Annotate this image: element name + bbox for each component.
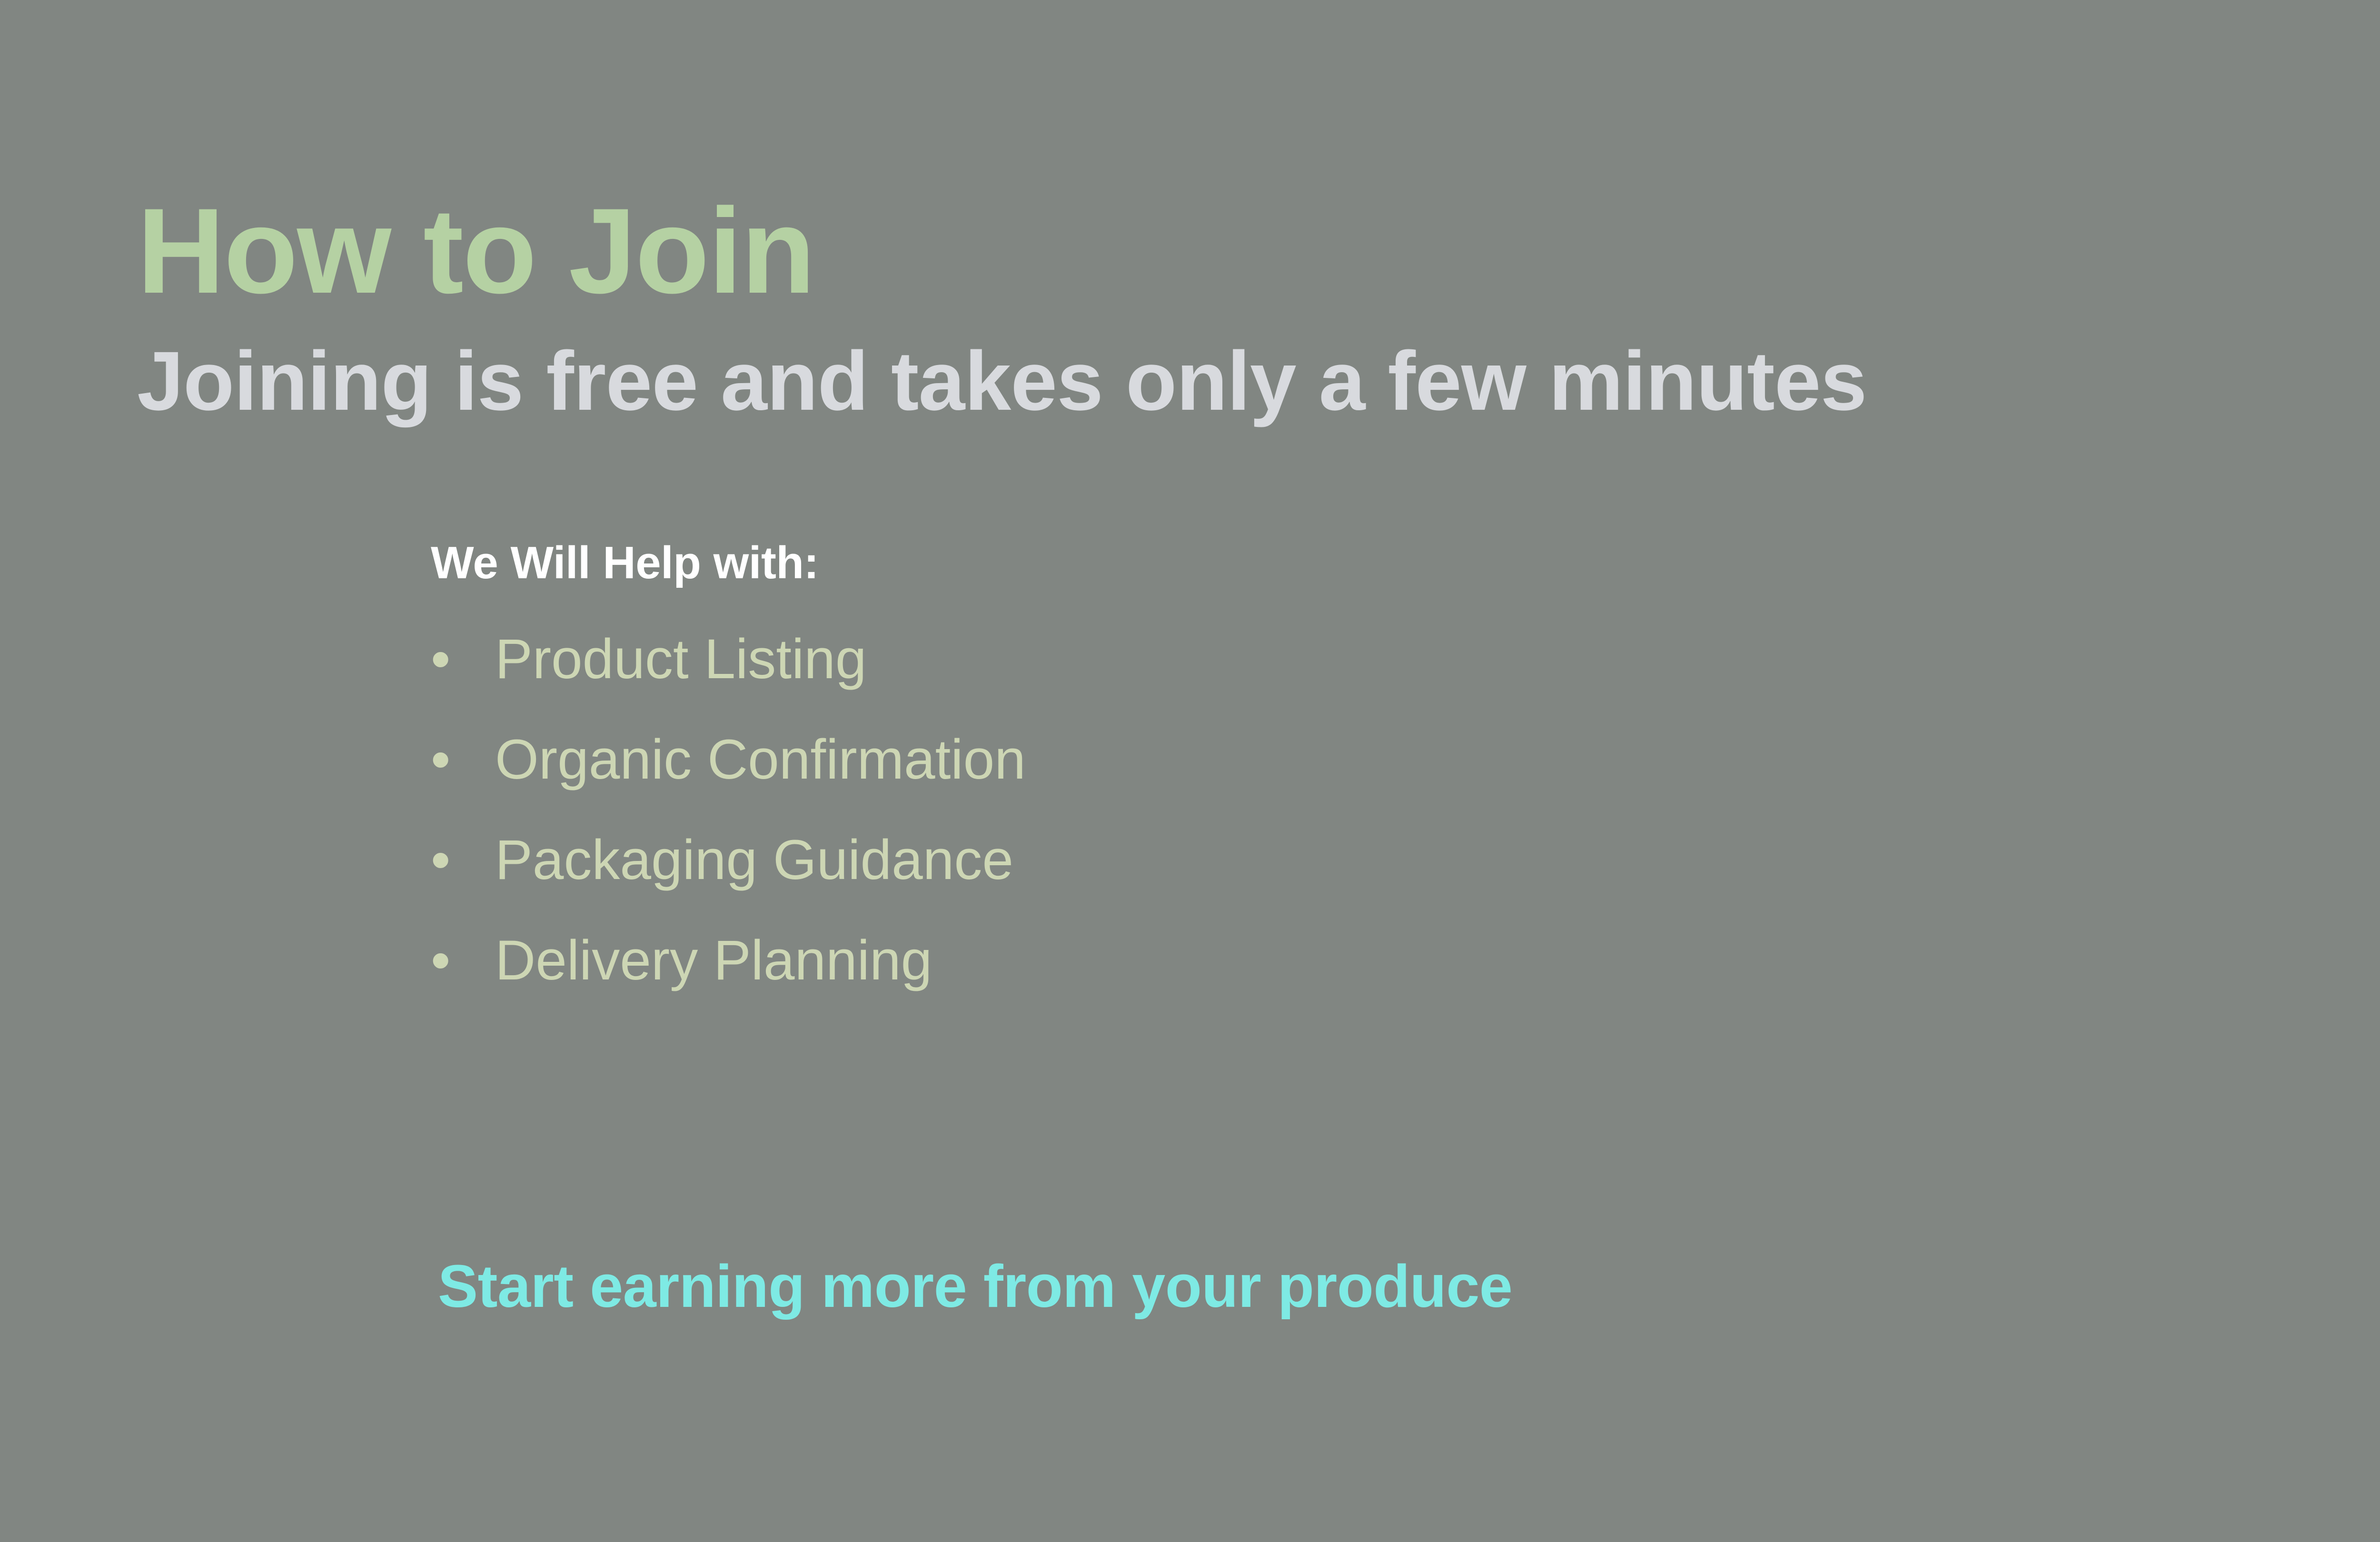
help-items-list: • Product Listing • Organic Confirmation… [431, 586, 2380, 988]
presentation-slide: How to Join Joining is free and takes on… [0, 0, 2380, 1542]
list-item-label: Organic Confirmation [495, 731, 1026, 788]
bullet-dot-icon: • [431, 832, 495, 888]
slide-body-block: We Will Help with: • Product Listing • O… [431, 540, 2380, 988]
bullet-dot-icon: • [431, 932, 495, 988]
help-section-label: We Will Help with: [431, 540, 2380, 586]
list-item: • Organic Confirmation [431, 731, 2380, 832]
list-item-label: Product Listing [495, 631, 867, 687]
page-title: How to Join [137, 190, 2380, 312]
list-item: • Delivery Planning [431, 932, 2380, 988]
slide-heading-block: How to Join Joining is free and takes on… [137, 190, 2380, 423]
list-item-label: Packaging Guidance [495, 832, 1013, 888]
bullet-dot-icon: • [431, 631, 495, 687]
list-item: • Packaging Guidance [431, 832, 2380, 932]
bullet-dot-icon: • [431, 731, 495, 788]
list-item: • Product Listing [431, 631, 2380, 731]
closing-call-to-action: Start earning more from your produce [438, 1256, 1512, 1316]
slide-subtitle: Joining is free and takes only a few min… [137, 312, 2380, 423]
list-item-label: Delivery Planning [495, 932, 932, 988]
